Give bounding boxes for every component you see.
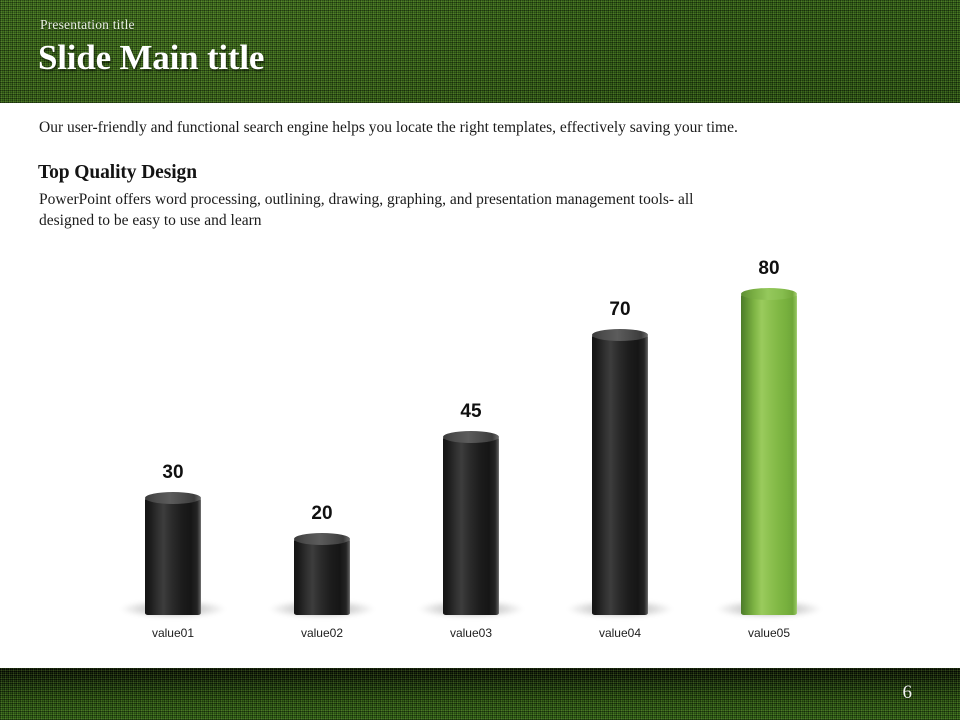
- page-number: 6: [903, 682, 913, 704]
- bar-value-label: 20: [242, 503, 402, 525]
- bar-group[interactable]: 80value05: [689, 230, 849, 640]
- bar-category-label: value05: [689, 626, 849, 640]
- cylinder-body: [294, 539, 350, 615]
- bar-category-label: value01: [93, 626, 253, 640]
- bar-cylinder[interactable]: [294, 533, 350, 615]
- bar-value-label: 70: [540, 299, 700, 321]
- bar-group[interactable]: 70value04: [540, 230, 700, 640]
- cylinder-body: [145, 498, 201, 615]
- cylinder-top-ellipse: [294, 533, 350, 545]
- bar-chart: 30value0120value0245value0370value0480va…: [0, 230, 960, 640]
- bar-value-label: 30: [93, 462, 253, 484]
- bar-cylinder[interactable]: [592, 329, 648, 615]
- cylinder-top-ellipse: [443, 431, 499, 443]
- cylinder-top-ellipse: [592, 329, 648, 341]
- bar-value-label: 80: [689, 258, 849, 280]
- bar-category-label: value03: [391, 626, 551, 640]
- cylinder-body: [741, 294, 797, 615]
- slide-footer: 6: [0, 668, 960, 720]
- cylinder-top-ellipse: [145, 492, 201, 504]
- cylinder-top-ellipse: [741, 288, 797, 300]
- bar-cylinder-highlight[interactable]: [741, 288, 797, 615]
- slide-main-title: Slide Main title: [38, 38, 264, 78]
- bar-category-label: value02: [242, 626, 402, 640]
- bar-group[interactable]: 30value01: [93, 230, 253, 640]
- bar-cylinder[interactable]: [145, 492, 201, 615]
- slide-header: Presentation title Slide Main title: [0, 0, 960, 103]
- cylinder-body: [592, 335, 648, 615]
- bar-category-label: value04: [540, 626, 700, 640]
- cylinder-body: [443, 437, 499, 615]
- bar-cylinder[interactable]: [443, 431, 499, 615]
- bar-value-label: 45: [391, 401, 551, 423]
- intro-paragraph: Our user-friendly and functional search …: [39, 117, 869, 138]
- section-body-text: PowerPoint offers word processing, outli…: [39, 189, 719, 231]
- slide-canvas: Presentation title Slide Main title Our …: [0, 0, 960, 720]
- presentation-title: Presentation title: [40, 17, 135, 33]
- bar-group[interactable]: 45value03: [391, 230, 551, 640]
- section-heading: Top Quality Design: [38, 162, 197, 184]
- bar-group[interactable]: 20value02: [242, 230, 402, 640]
